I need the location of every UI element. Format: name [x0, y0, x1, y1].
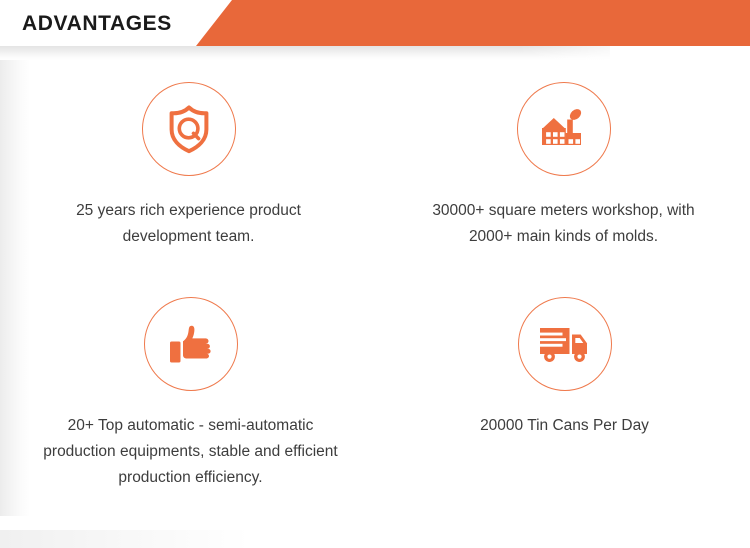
- shield-quality-icon: [163, 103, 215, 155]
- advantages-section: ADVANTAGES 25 years rich experience prod…: [0, 0, 750, 548]
- feature-icon-circle: [142, 82, 236, 176]
- bottom-edge-shading: [0, 530, 250, 548]
- thumbs-up-icon: [166, 319, 216, 369]
- feature-description: 20000 Tin Cans Per Day: [415, 413, 715, 439]
- delivery-truck-icon: [538, 322, 592, 366]
- feature-description: 25 years rich experience product develop…: [39, 198, 339, 250]
- factory-icon: [537, 103, 591, 155]
- feature-icon-circle: [144, 297, 238, 391]
- feature-item: 30000+ square meters workshop, with 2000…: [375, 80, 750, 295]
- header-accent-shape: [196, 0, 750, 46]
- section-header: ADVANTAGES: [0, 0, 750, 46]
- feature-item: 25 years rich experience product develop…: [0, 80, 375, 295]
- feature-icon-circle: [518, 297, 612, 391]
- feature-description: 20+ Top automatic - semi-automatic produ…: [36, 413, 346, 491]
- features-grid: 25 years rich experience product develop…: [0, 80, 750, 510]
- feature-item: 20+ Top automatic - semi-automatic produ…: [0, 295, 375, 510]
- feature-description: 30000+ square meters workshop, with 2000…: [414, 198, 714, 250]
- page-title: ADVANTAGES: [22, 11, 172, 36]
- feature-item: 20000 Tin Cans Per Day: [375, 295, 750, 510]
- feature-icon-circle: [517, 82, 611, 176]
- header-drop-shadow: [0, 46, 610, 60]
- header-drop-shadow-fade: [520, 46, 650, 60]
